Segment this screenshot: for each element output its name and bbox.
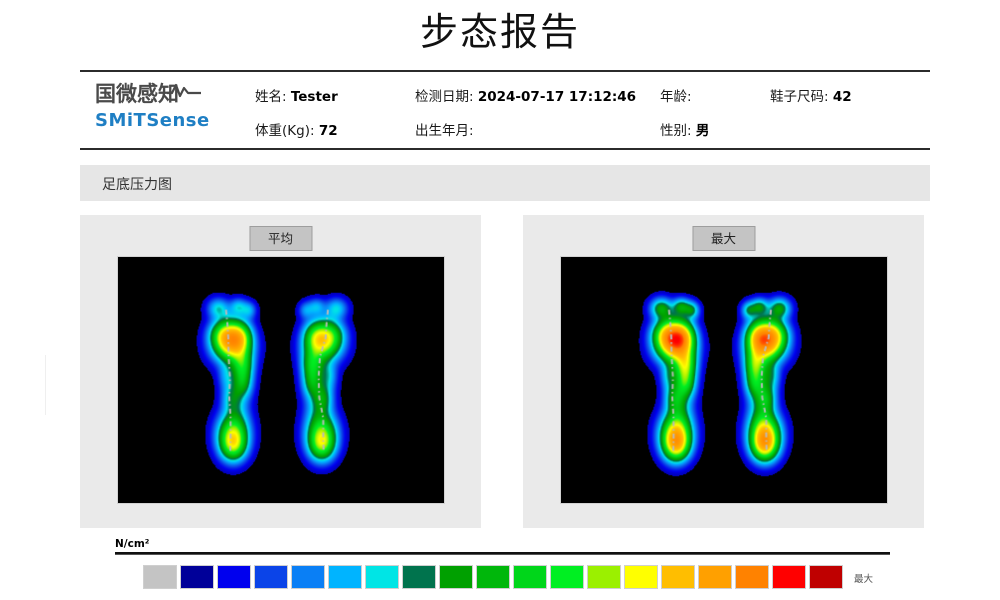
info-label: 年龄: bbox=[660, 89, 692, 105]
tab-maximum[interactable]: 最大 bbox=[692, 226, 755, 251]
section-header-plantar-pressure: 足底压力图 bbox=[80, 165, 930, 201]
legend-divider bbox=[115, 552, 890, 555]
legend-max-label: 最大 bbox=[854, 571, 873, 585]
pressure-heatmap-maximum bbox=[561, 257, 887, 503]
legend-swatch-15 bbox=[698, 565, 732, 589]
legend-swatch-5 bbox=[328, 565, 362, 589]
pressure-colorbar-legend: N/cm² 最小 最大 bbox=[115, 538, 890, 593]
legend-swatch-8 bbox=[439, 565, 473, 589]
info-field-weight: 体重(Kg): 72 bbox=[255, 119, 338, 139]
heatmap-frame-maximum bbox=[560, 256, 888, 504]
legend-swatch-6 bbox=[365, 565, 399, 589]
legend-swatch-row bbox=[143, 565, 843, 589]
logo-english-text: SMiTSense bbox=[95, 108, 240, 134]
page-title: 步态报告 bbox=[0, 6, 1000, 58]
info-field-shoe-size: 鞋子尺码: 42 bbox=[770, 85, 852, 105]
legend-unit-label: N/cm² bbox=[115, 538, 149, 550]
legend-swatch-13 bbox=[624, 565, 658, 589]
legend-swatch-10 bbox=[513, 565, 547, 589]
info-field-age: 年龄: bbox=[660, 85, 692, 105]
legend-swatch-17 bbox=[772, 565, 806, 589]
legend-swatch-0 bbox=[143, 565, 177, 589]
info-label: 性别: bbox=[660, 123, 692, 139]
header-divider-top bbox=[80, 70, 930, 72]
info-label: 姓名: bbox=[255, 89, 287, 105]
section-title: 足底压力图 bbox=[102, 174, 172, 194]
pressure-panel-maximum: 最大 bbox=[523, 215, 924, 528]
info-value: Tester bbox=[291, 89, 338, 105]
info-field-test-date: 检测日期: 2024-07-17 17:12:46 bbox=[415, 85, 636, 105]
info-label: 鞋子尺码: bbox=[770, 89, 829, 105]
legend-swatch-14 bbox=[661, 565, 695, 589]
info-label: 体重(Kg): bbox=[255, 123, 315, 139]
legend-swatch-1 bbox=[180, 565, 214, 589]
legend-swatch-9 bbox=[476, 565, 510, 589]
waveform-icon bbox=[167, 82, 201, 98]
info-value: 2024-07-17 17:12:46 bbox=[478, 89, 636, 105]
legend-swatch-2 bbox=[217, 565, 251, 589]
info-field-gender: 性别: 男 bbox=[660, 119, 709, 139]
legend-swatch-12 bbox=[587, 565, 621, 589]
legend-swatch-3 bbox=[254, 565, 288, 589]
info-label: 检测日期: bbox=[415, 89, 474, 105]
brand-logo: 国微感知 SMiTSense bbox=[95, 80, 240, 142]
legend-swatch-4 bbox=[291, 565, 325, 589]
gait-report-page: 步态报告 国微感知 SMiTSense 姓名: Tester 检测日期: 202… bbox=[0, 0, 1000, 600]
tab-average[interactable]: 平均 bbox=[249, 226, 312, 251]
page-edge-artifact bbox=[45, 355, 46, 415]
heatmap-frame-average bbox=[117, 256, 445, 504]
info-field-name: 姓名: Tester bbox=[255, 85, 338, 105]
legend-swatch-7 bbox=[402, 565, 436, 589]
info-label: 出生年月: bbox=[415, 123, 474, 139]
legend-swatch-18 bbox=[809, 565, 843, 589]
pressure-heatmap-average bbox=[118, 257, 444, 503]
header-divider-bottom bbox=[80, 148, 930, 150]
patient-info-grid: 姓名: Tester 检测日期: 2024-07-17 17:12:46 年龄:… bbox=[255, 78, 935, 144]
pressure-panel-average: 平均 bbox=[80, 215, 481, 528]
info-value: 男 bbox=[696, 123, 710, 139]
legend-swatch-16 bbox=[735, 565, 769, 589]
legend-swatch-11 bbox=[550, 565, 584, 589]
info-field-birth-date: 出生年月: bbox=[415, 119, 474, 139]
info-value: 72 bbox=[319, 123, 338, 139]
info-value: 42 bbox=[833, 89, 852, 105]
